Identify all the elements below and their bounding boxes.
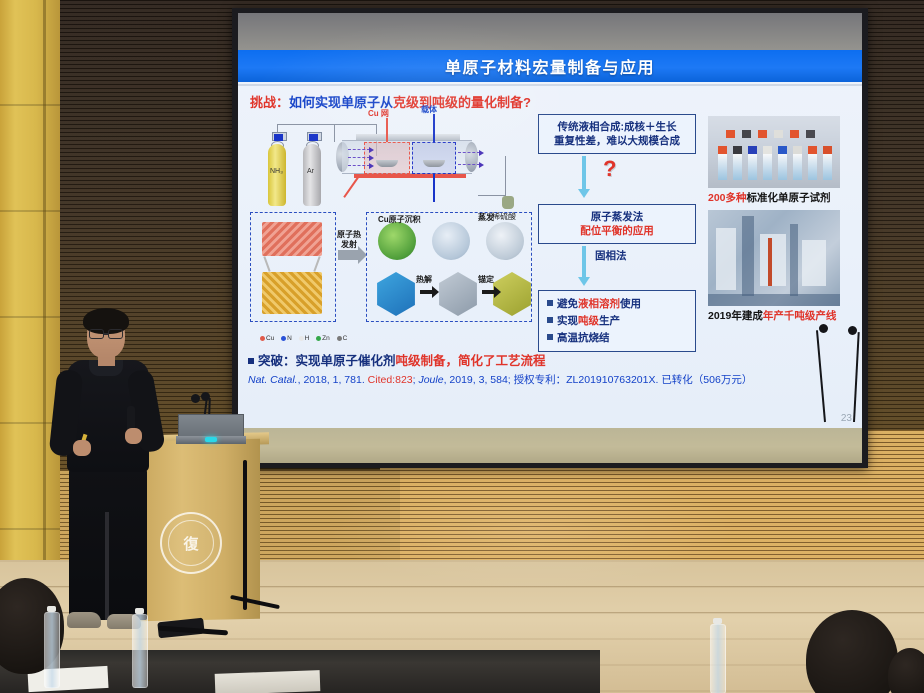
tube-endcap-right <box>465 142 478 172</box>
presentation-slide: 单原子材料宏量制备与应用 挑战：如何实现单原子从克级到吨级的量化制备? NH₃ <box>238 50 862 428</box>
vial-cap-back <box>758 130 767 138</box>
mof-surface-lattice <box>262 222 322 256</box>
nanoparticle-cu-deposit <box>378 222 416 260</box>
vial-cap <box>718 146 727 154</box>
vial-photo-caption: 200多种标准化单原子试剂 <box>708 190 831 205</box>
microphone-head-right <box>201 392 210 401</box>
regulator-gauge-nh3 <box>274 134 283 141</box>
label-support: 载体 <box>421 104 437 115</box>
question-mark: ? <box>603 156 616 182</box>
challenge-label: 挑战： <box>250 95 289 110</box>
mof-bulk-crystal <box>262 272 322 314</box>
label-anchoring: 锚定 <box>478 274 494 285</box>
label-cu-mesh: Cu 网 <box>368 108 389 119</box>
laptop-status-led <box>205 437 217 442</box>
bottle-cap-3 <box>713 618 722 624</box>
challenge-statement: 挑战：如何实现单原子从克级到吨级的量化制备? <box>250 92 531 111</box>
flow-box2-line2: 配位平衡的应用 <box>580 224 654 238</box>
presenter-person <box>55 312 185 647</box>
slide-title-bar: 单原子材料宏量制备与应用 <box>238 50 862 82</box>
support-arrow-up <box>433 114 435 142</box>
nanoparticle-evaporating <box>432 222 470 260</box>
ref-cite-1: , 2018, 1, 781. <box>298 374 365 386</box>
flow-box-atomic-evaporation: 原子蒸发法 配位平衡的应用 <box>538 204 696 244</box>
gas-cylinder-nh3 <box>268 144 286 206</box>
flow-box-advantages: 避免液相溶剂使用 实现吨级生产 高温抗烧结 <box>538 290 696 352</box>
acid-trap-flask <box>502 196 514 209</box>
vial-cap-back <box>774 130 783 138</box>
advantage-item-3: 高温抗烧结 <box>547 331 610 345</box>
reference-citation: Nat. Catal., 2018, 1, 781. Cited:823; Jo… <box>248 372 752 387</box>
laptop-screen <box>178 414 244 438</box>
equipment-red-valve <box>768 238 772 286</box>
vial-cap-back <box>742 130 751 138</box>
flow-arrow-1 <box>582 156 586 190</box>
legend-dot-c <box>337 336 342 341</box>
ref-patent-label: 授权专利： <box>514 374 567 386</box>
vial-array-photo <box>708 116 840 188</box>
challenge-highlight: 克级到吨级的量化制备? <box>393 95 531 110</box>
screen-bottom-band <box>238 423 862 463</box>
equipment-hopper <box>802 240 826 286</box>
water-bottle-1[interactable] <box>44 612 60 688</box>
legend-label-cu: Cu <box>266 335 274 342</box>
regulator-gauge-ar <box>309 134 318 141</box>
bullet-square-icon <box>547 317 553 323</box>
flow-box-traditional: 传统液相合成:成核＋生长 重复性差，难以大规模合成 <box>538 114 696 154</box>
presenter-leg-gap <box>105 512 109 620</box>
presenter-shoe-left <box>67 612 101 628</box>
breakthrough-highlight: 吨级制备，简化了工艺流程 <box>396 354 546 368</box>
breakthrough-label: 突破： <box>258 354 296 368</box>
support-arrow-down <box>433 174 435 202</box>
flow-arrow-2 <box>582 246 586 278</box>
gas-flow-arrow <box>348 165 370 166</box>
label-thermal-emission: 原子热发射 <box>336 230 362 249</box>
bullet-square-icon <box>547 300 553 306</box>
breakthrough-statement: 突破：实现单原子催化剂吨级制备，简化了工艺流程 <box>248 350 546 369</box>
advantage-item-2: 实现吨级生产 <box>547 314 620 328</box>
breakthrough-mid: 实现单原子催化剂 <box>296 354 396 368</box>
label-evaporation: 蒸发 <box>478 212 494 223</box>
equipment-base <box>708 294 840 306</box>
screen-top-band <box>238 13 862 51</box>
ref-cited-count: Cited:823 <box>368 374 413 386</box>
sample-boat-cu <box>376 160 398 167</box>
slide-title-underline <box>238 84 862 86</box>
gas-exit-arrow <box>458 152 480 153</box>
flow-box1-line2: 重复性差，难以大规模合成 <box>554 134 680 148</box>
production-line-photo <box>708 210 840 306</box>
bottle-cap-2 <box>135 608 144 614</box>
legend-dot-zn <box>316 336 321 341</box>
equipment-column <box>742 216 754 296</box>
water-bottle-2[interactable] <box>132 614 148 688</box>
vial-cap <box>778 146 787 154</box>
yellow-pillar <box>0 0 60 585</box>
gas-cylinder-ar <box>303 144 321 206</box>
slide-title: 单原子材料宏量制备与应用 <box>445 54 655 78</box>
gas-exit-arrow <box>458 164 480 165</box>
pillar-edge <box>43 0 46 585</box>
power-cable <box>243 460 247 610</box>
furnace-heating-bar <box>354 174 466 178</box>
ref-transfer: 已转化（506万元） <box>661 374 752 386</box>
equipment-vessel <box>760 234 786 286</box>
pyrolysis-arrowhead <box>432 286 439 298</box>
mechanism-diagram: 原子热发射 Cu原子沉积 蒸发 热解 锚定 Cu N <box>246 210 536 338</box>
vial-cap <box>763 146 772 154</box>
eyeglasses-bridge <box>104 333 109 335</box>
legend-label-c: C <box>343 335 348 342</box>
bottle-cap-1 <box>47 606 56 612</box>
microphone-head-far-right <box>848 326 857 335</box>
water-bottle-3[interactable] <box>710 624 726 693</box>
microphone-head-left <box>191 394 200 403</box>
bullet-square-icon <box>248 358 254 364</box>
ref-journal-1: Nat. Catal. <box>248 374 298 386</box>
ref-cite-2: , 2019, 3, 584; <box>444 374 511 386</box>
ref-patent-no: ZL201910763201X. <box>566 374 658 386</box>
ref-journal-2: Joule <box>418 374 443 386</box>
thermal-emission-arrow <box>338 250 360 260</box>
legend-dot-h <box>299 336 304 341</box>
label-solid-phase-method: 固相法 <box>595 248 627 263</box>
slide-page-number: 23 <box>841 413 852 424</box>
reagent-vial <box>763 154 772 180</box>
legend-label-zn: Zn <box>322 335 330 342</box>
flow-box2-line1: 原子蒸发法 <box>591 210 644 224</box>
gas-flow-arrow <box>348 157 370 158</box>
vial-cap-back <box>806 130 815 138</box>
notebook-on-table <box>215 670 321 693</box>
legend-dot-cu <box>260 336 265 341</box>
advantage-item-1: 避免液相溶剂使用 <box>547 297 641 311</box>
vial-cap <box>808 146 817 154</box>
eyeglasses-lens-left <box>89 329 104 339</box>
vial-cap <box>733 146 742 154</box>
projection-screen-surface: 单原子材料宏量制备与应用 挑战：如何实现单原子从克级到吨级的量化制备? NH₃ <box>238 13 862 463</box>
legend-label-n: N <box>287 335 292 342</box>
flow-box1-line1: 传统液相合成:成核＋生长 <box>558 120 677 134</box>
reagent-vial <box>718 154 727 180</box>
gas-flow-arrow <box>348 149 370 150</box>
vial-cap <box>823 146 832 154</box>
lecture-hall-room: 单原子材料宏量制备与应用 挑战：如何实现单原子从克级到吨级的量化制备? NH₃ <box>0 0 924 693</box>
equipment-pipe <box>790 224 798 296</box>
vial-cap <box>748 146 757 154</box>
presenter-hand-left <box>73 440 91 456</box>
reagent-vial <box>823 154 832 180</box>
vial-cap-back <box>790 130 799 138</box>
reagent-vial <box>808 154 817 180</box>
eyeglasses-lens-right <box>108 329 123 339</box>
reagent-vial <box>778 154 787 180</box>
vial-caption-accent: 200多种 <box>708 192 747 204</box>
microphone-head-far-left <box>819 324 828 333</box>
vial-cap <box>793 146 802 154</box>
cu-mesh-arrow <box>386 118 388 142</box>
support-zone <box>412 142 456 174</box>
vial-cap-back <box>726 130 735 138</box>
presenter-hand-right <box>125 428 142 444</box>
legend-label-h: H <box>305 335 310 342</box>
atom-legend: Cu N H Zn C <box>260 335 347 342</box>
cylinder-label-nh3: NH₃ <box>270 168 283 175</box>
legend-dot-n <box>281 336 286 341</box>
reagent-vial <box>733 154 742 180</box>
bullet-square-icon <box>547 334 553 340</box>
outlet-tube <box>478 156 506 196</box>
label-cu-deposition: Cu原子沉积 <box>378 214 421 225</box>
reagent-vial <box>748 154 757 180</box>
equipment-cabinet <box>716 228 736 290</box>
reagent-vial <box>793 154 802 180</box>
anchoring-arrowhead <box>494 286 501 298</box>
production-caption-plain: 2019年建成 <box>708 310 763 322</box>
production-caption-accent: 年产千吨级产线 <box>763 310 837 322</box>
cu-mesh-arrow-down <box>343 175 360 197</box>
label-pyrolysis: 热解 <box>416 274 432 285</box>
nanoparticle-anchored <box>486 222 524 260</box>
production-photo-caption: 2019年建成年产千吨级产线 <box>708 308 836 323</box>
vial-caption-plain: 标准化单原子试剂 <box>747 192 831 204</box>
cylinder-label-ar: Ar <box>307 168 314 175</box>
sample-boat-support <box>423 160 445 167</box>
